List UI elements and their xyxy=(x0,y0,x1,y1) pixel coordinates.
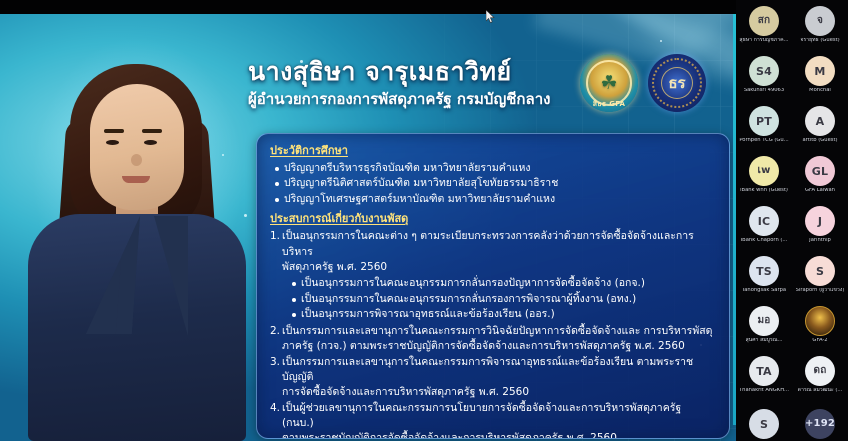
participant-tile[interactable]: TSTanongsak Sarpa xyxy=(736,250,792,300)
participant-name: สุธิษา การบัญชีภาค... xyxy=(739,38,788,44)
gfa-logo-caption: สิธธ GFA xyxy=(580,99,638,110)
participant-tile[interactable]: ICIBank Chaporn (... xyxy=(736,200,792,250)
mouse-cursor xyxy=(486,10,495,24)
participant-avatar[interactable]: GL xyxy=(805,156,835,186)
participant-avatar[interactable]: TA xyxy=(749,356,779,386)
top-black-bar xyxy=(0,0,736,14)
meeting-screen-share-view: นางสุธิษา จารุเมธาวิทย์ ผู้อำนวยการกองกา… xyxy=(0,0,848,441)
education-item: ปริญญาโทเศรษฐศาสตร์มหาบัณฑิต มหาวิทยาลัย… xyxy=(270,192,716,208)
bullet-dot xyxy=(275,198,279,202)
participant-name: IBank Chaporn (... xyxy=(741,238,788,244)
experience-item-number: 2. xyxy=(270,324,280,339)
eye-left xyxy=(106,140,119,145)
participant-tile[interactable]: MMonchai xyxy=(792,50,848,100)
participant-avatar[interactable]: IC xyxy=(749,206,779,236)
experience-item-continuation: การจัดซื้อจัดจ้างและการบริหารพัสดุภาครัฐ… xyxy=(270,385,716,400)
participant-name: Sakunsri 49063 xyxy=(744,88,784,94)
participant-tile[interactable]: ดถดารณี ลิ้มวัฒนะ (... xyxy=(792,350,848,400)
experience-subitem: เป็นอนุกรรมการในคณะอนุกรรมการกลั่นกรองกา… xyxy=(270,292,716,308)
participant-tile[interactable]: Aartitb (Guest) xyxy=(792,100,848,150)
participant-tile[interactable]: มอสุนิศา สมบูรณ์... xyxy=(736,300,792,350)
participant-tile[interactable]: จจิรายุทธ์ (Guest) xyxy=(792,0,848,50)
participant-tile-grid: สกสุธิษา การบัญชีภาค...จจิรายุทธ์ (Guest… xyxy=(736,0,848,441)
participant-name: Monchai xyxy=(809,88,831,94)
participant-name: จิรายุทธ์ (Guest) xyxy=(800,38,839,44)
participant-name: iBank wnn (Guest) xyxy=(740,188,788,194)
mouth xyxy=(122,176,150,183)
bullet-dot xyxy=(292,282,296,286)
participant-avatar[interactable]: S xyxy=(805,256,835,286)
shared-slide-stage[interactable]: นางสุธิษา จารุเมธาวิทย์ ผู้อำนวยการกองกา… xyxy=(0,0,736,441)
experience-item-number: 1. xyxy=(270,229,280,260)
participant-tile[interactable]: JJarinthip xyxy=(792,200,848,250)
bullet-dot xyxy=(292,298,296,302)
participant-sidebar[interactable]: สกสุธิษา การบัญชีภาค...จจิรายุทธ์ (Guest… xyxy=(736,0,848,441)
nose xyxy=(131,154,142,166)
participant-name: Thanakrit ANGKH... xyxy=(739,388,789,394)
education-item-text: ปริญญาตรีบริหารธุรกิจบัณฑิต มหาวิทยาลัยร… xyxy=(284,161,531,177)
participant-avatar[interactable]: ดถ xyxy=(805,356,835,386)
experience-subitem-text: เป็นอนุกรรมการในคณะอนุกรรมการกลั่นกรองกา… xyxy=(301,292,636,308)
education-item: ปริญญาตรีนิติศาสตร์บัณฑิต มหาวิทยาลัยสุโ… xyxy=(270,176,716,192)
stage-right-edge-accent xyxy=(733,14,736,425)
experience-item-text: เป็นกรรมการและเลขานุการในคณะกรรมการพิจาร… xyxy=(282,355,716,386)
participant-name: Pornpen TCG (Gu... xyxy=(739,138,788,144)
presenter-photo xyxy=(18,28,256,441)
participant-name: Tanongsak Sarpa xyxy=(742,288,786,294)
experience-item: 2. เป็นกรรมการและเลขานุการในคณะกรรมการวิ… xyxy=(270,324,716,339)
seal-emblem-glyph: ธร xyxy=(648,54,706,112)
sparkle xyxy=(660,40,662,42)
participant-name: Jarinthip xyxy=(809,238,831,244)
participant-tile[interactable]: +192 xyxy=(792,400,848,441)
experience-item-continuation: ตามพระราชบัญญัติการจัดซื้อจัดจ้างและการบ… xyxy=(270,431,716,439)
eyebrow-left xyxy=(104,129,124,133)
participant-tile[interactable]: สกสุธิษา การบัญชีภาค... xyxy=(736,0,792,50)
presentation-slide: นางสุธิษา จารุเมธาวิทย์ ผู้อำนวยการกองกา… xyxy=(0,14,736,441)
experience-item-number: 3. xyxy=(270,355,280,386)
education-item: ปริญญาตรีบริหารธุรกิจบัณฑิต มหาวิทยาลัยร… xyxy=(270,161,716,177)
participant-avatar[interactable]: สก xyxy=(749,6,779,36)
participant-tile[interactable]: เwiBank wnn (Guest) xyxy=(736,150,792,200)
participant-avatar[interactable]: มอ xyxy=(749,306,779,336)
slide-content-card: ประวัติการศึกษา ปริญญาตรีบริหารธุรกิจบัณ… xyxy=(256,133,730,439)
participant-name: artitb (Guest) xyxy=(802,138,837,144)
participant-name: ดารณี ลิ้มวัฒนะ (... xyxy=(798,388,843,394)
organization-logos: ☘ สิธธ GFA ธร xyxy=(580,54,706,112)
education-item-text: ปริญญาโทเศรษฐศาสตร์มหาบัณฑิต มหาวิทยาลัย… xyxy=(284,192,555,208)
participant-tile[interactable]: S xyxy=(736,400,792,441)
participant-avatar[interactable]: S4 xyxy=(749,56,779,86)
participant-name: Siraporn (ผู้ว่าแขวง) xyxy=(796,288,845,294)
experience-subitem: เป็นอนุกรรมการพิจารณาอุทธรณ์และข้อร้องเร… xyxy=(270,307,716,323)
participant-avatar[interactable]: PT xyxy=(749,106,779,136)
participant-tile[interactable]: GFA-2 xyxy=(792,300,848,350)
participant-avatar[interactable]: เw xyxy=(749,156,779,186)
participant-avatar[interactable]: S xyxy=(749,409,779,439)
bullet-dot xyxy=(275,167,279,171)
eyebrow-right xyxy=(142,129,162,133)
experience-subitems: เป็นอนุกรรมการในคณะอนุกรรมการกลั่นกรองปั… xyxy=(270,276,716,323)
experience-item-text: เป็นอนุกรรมการในคณะต่าง ๆ ตามระเบียบกระท… xyxy=(282,229,716,260)
participant-avatar[interactable]: A xyxy=(805,106,835,136)
experience-item-text: เป็นผู้ช่วยเลขานุการในคณะกรรมการนโยบายกา… xyxy=(282,401,716,432)
government-seal-logo: ธร xyxy=(648,54,706,112)
experience-item-continuation: ภาครัฐ (กวจ.) ตามพระราชบัญญัติการจัดซื้อ… xyxy=(270,339,716,354)
experience-subitem-text: เป็นอนุกรรมการในคณะอนุกรรมการกลั่นกรองปั… xyxy=(301,276,645,292)
participant-tile[interactable]: SSiraporn (ผู้ว่าแขวง) xyxy=(792,250,848,300)
education-heading: ประวัติการศึกษา xyxy=(270,144,716,159)
experience-item-number: 4. xyxy=(270,401,280,432)
participant-avatar[interactable]: J xyxy=(805,206,835,236)
participant-name: GFA Laiwan xyxy=(805,188,835,194)
experience-heading: ประสบการณ์เกี่ยวกับงานพัสดุ xyxy=(270,212,716,227)
gfa-logo: ☘ สิธธ GFA xyxy=(580,54,638,112)
face xyxy=(90,84,184,210)
experience-subitem: เป็นอนุกรรมการในคณะอนุกรรมการกลั่นกรองปั… xyxy=(270,276,716,292)
experience-item: 3. เป็นกรรมการและเลขานุการในคณะกรรมการพิ… xyxy=(270,355,716,386)
participant-tile[interactable]: PTPornpen TCG (Gu... xyxy=(736,100,792,150)
experience-item-text: เป็นกรรมการและเลขานุการในคณะกรรมการวินิจ… xyxy=(282,324,716,339)
participant-name: สุนิศา สมบูรณ์... xyxy=(746,338,783,344)
participant-name: GFA-2 xyxy=(812,338,827,344)
participant-tile[interactable]: S4Sakunsri 49063 xyxy=(736,50,792,100)
bullet-dot xyxy=(275,182,279,186)
participant-avatar[interactable]: จ xyxy=(805,6,835,36)
experience-item-continuation: พัสดุภาครัฐ พ.ศ. 2560 xyxy=(270,260,716,275)
participant-tile[interactable]: GLGFA Laiwan xyxy=(792,150,848,200)
participant-tile[interactable]: TAThanakrit ANGKH... xyxy=(736,350,792,400)
participant-avatar[interactable] xyxy=(805,306,835,336)
experience-subitem-text: เป็นอนุกรรมการพิจารณาอุทธรณ์และข้อร้องเร… xyxy=(301,307,555,323)
eye-right xyxy=(144,140,157,145)
bullet-dot xyxy=(292,313,296,317)
experience-item: 1. เป็นอนุกรรมการในคณะต่าง ๆ ตามระเบียบก… xyxy=(270,229,716,260)
experience-item: 4. เป็นผู้ช่วยเลขานุการในคณะกรรมการนโยบา… xyxy=(270,401,716,432)
more-participants-badge[interactable]: +192 xyxy=(805,409,835,439)
participant-avatar[interactable]: M xyxy=(805,56,835,86)
education-item-text: ปริญญาตรีนิติศาสตร์บัณฑิต มหาวิทยาลัยสุโ… xyxy=(284,176,558,192)
participant-avatar[interactable]: TS xyxy=(749,256,779,286)
